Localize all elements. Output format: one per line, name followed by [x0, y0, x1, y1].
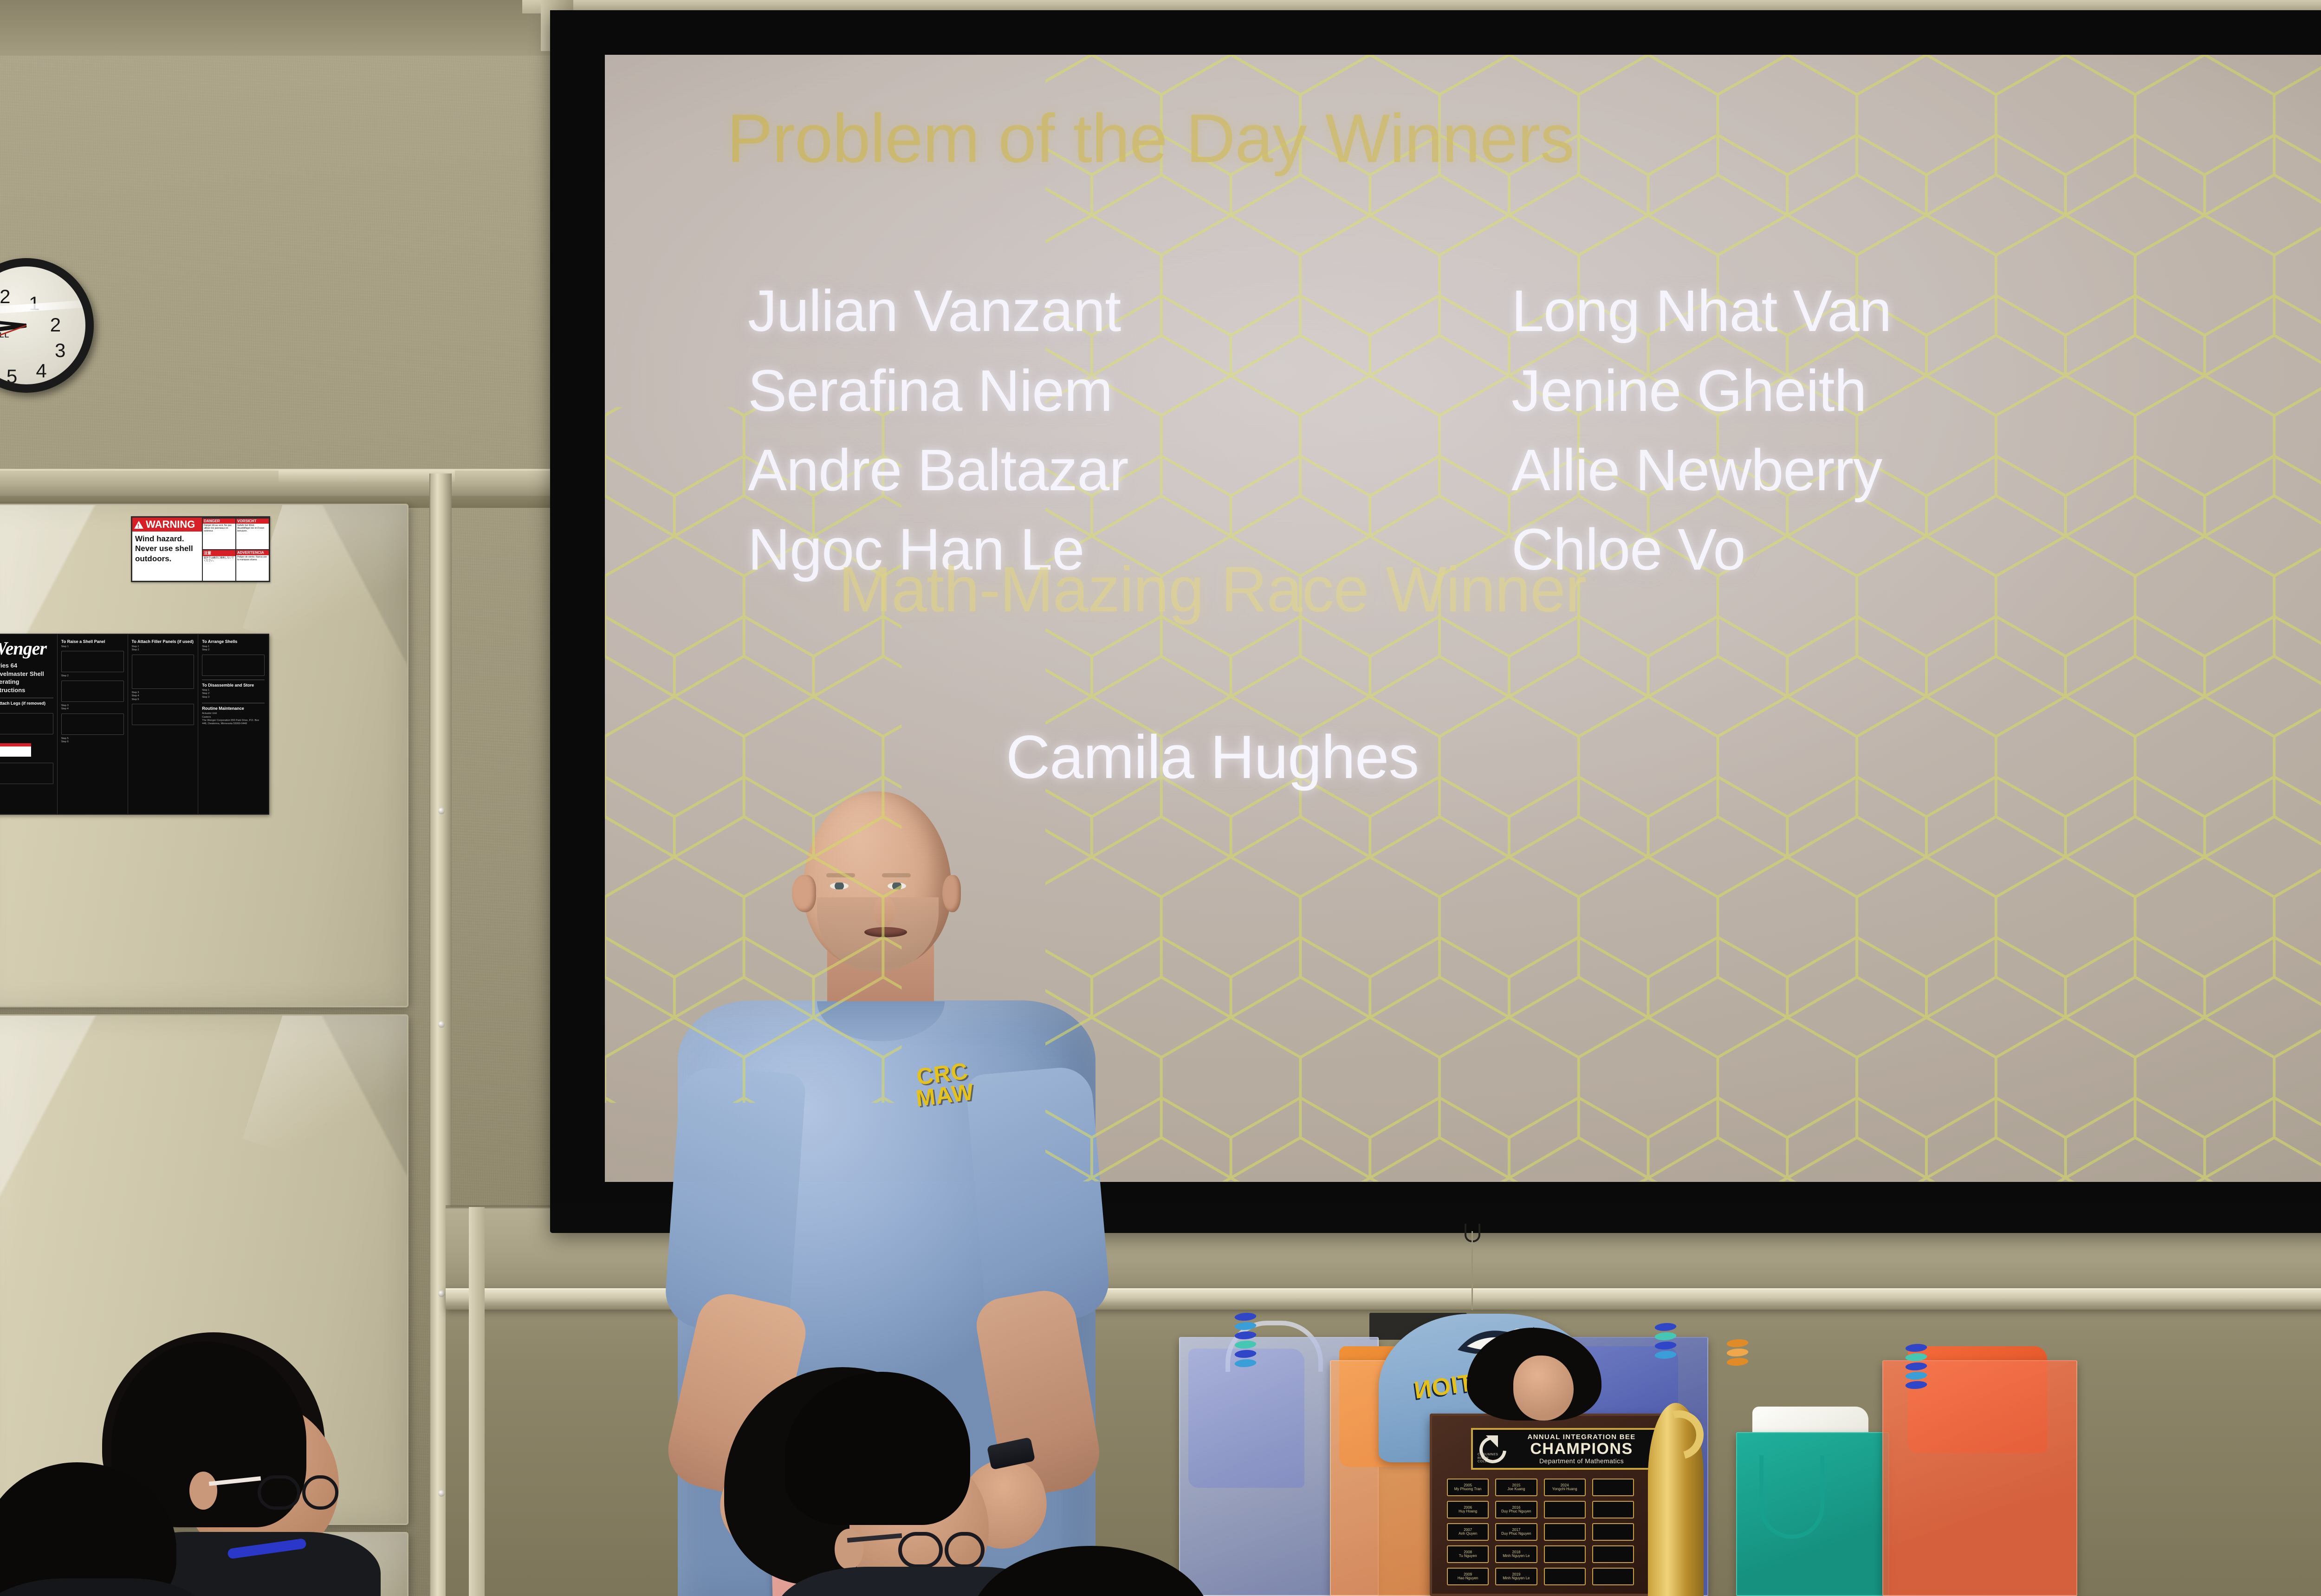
warning-line-1: Wind hazard.: [135, 534, 199, 544]
audience-member-foreground: [970, 1546, 1230, 1596]
warning-translation-text: Danger dû au vent. Ne pas utiliser les p…: [203, 524, 235, 533]
ear: [835, 1529, 863, 1570]
placard-section-heading: To Attach Legs (if removed): [0, 701, 53, 706]
placard-diagram: [202, 655, 265, 676]
winner-name: Julian Vanzant: [748, 271, 1484, 350]
warning-translation-cell: DANGER Danger dû au vent. Ne pas utilise…: [202, 518, 235, 549]
door-frame: [469, 1207, 485, 1596]
winner-name: Jenine Gheith: [1511, 351, 2247, 430]
plaque-plate: [1592, 1523, 1634, 1541]
placard-step: Step 3: [0, 757, 53, 760]
plaque-plate: [1592, 1479, 1634, 1496]
placard-step: Step 3: [61, 704, 124, 707]
warning-line-3: outdoors.: [135, 554, 199, 564]
warning-severity-bar: WARNING: [132, 518, 202, 532]
placard-step: Actuator Unit: [202, 712, 265, 715]
plaque-plate: [1592, 1501, 1634, 1518]
post-screw: [438, 1291, 445, 1297]
slide-title: Problem of the Day Winners: [727, 104, 2321, 173]
plaque-plate-name: Tu Nguyen: [1459, 1554, 1477, 1558]
plaque-logo-text: COSUMNES RIVER COLLEGE: [1478, 1453, 1504, 1464]
placard-step: Step 1: [202, 689, 265, 692]
warning-translation-text: Gefahr bei Wind. Akustikflügel nie im Fr…: [236, 524, 269, 533]
warning-severity-label: WARNING: [146, 519, 195, 531]
placard-step: Step 2: [202, 649, 265, 652]
placard-model: Travelmaster Shell: [0, 670, 53, 678]
plaque-plate-name: Hao Nguyen: [1458, 1577, 1478, 1581]
placard-arrange-column: To Arrange Shells Step 1 Step 2 To Disas…: [198, 635, 268, 814]
winner-name: Serafina Niem: [748, 351, 1484, 430]
post-screw: [438, 808, 445, 814]
slide-text-layer: Problem of the Day Winners Julian Vanzan…: [605, 55, 2321, 1182]
plaque-plate: 2005My Phuong Tran: [1447, 1479, 1489, 1496]
winner-name: Allie Newberry: [1511, 430, 2247, 510]
placard-step: Step 5: [132, 698, 194, 701]
hair: [0, 1462, 176, 1596]
placard-step: Step 6: [61, 740, 124, 744]
plaque-plate: 2024Yongchi Huang: [1544, 1479, 1586, 1496]
placard-section-heading: To Disassemble and Store: [202, 683, 265, 688]
placard-diagram: [0, 763, 53, 784]
warning-line-2: Never use shell: [135, 544, 199, 553]
plaque-plate: 2009Hao Nguyen: [1447, 1568, 1489, 1585]
gift-bag-handle: [1759, 1455, 1824, 1539]
photo-scene: 12 1 2 3 4 5 6 LORELL WARNING: [0, 0, 2321, 1596]
placard-diagram: [0, 713, 53, 734]
placard-filler-column: To Attach Filler Panels (if used) Step 1…: [128, 635, 199, 814]
placard-section-heading: To Attach Filler Panels (if used): [132, 639, 194, 644]
clock-numeral-3: 3: [55, 339, 65, 362]
placard-doctype: Operating Instructions: [0, 678, 53, 694]
warning-primary-panel: WARNING Wind hazard. Never use shell out…: [132, 518, 202, 581]
winner-name: Long Nhat Van: [1511, 271, 2247, 350]
clock-numeral-12: 12: [0, 285, 10, 308]
clock-glass-glare: [0, 299, 85, 317]
warning-translation-severity: 注意: [203, 550, 235, 556]
winner-name: Andre Baltazar: [748, 430, 1484, 510]
wind-hazard-warning-label: WARNING Wind hazard. Never use shell out…: [131, 516, 270, 582]
plaque-plate: [1544, 1545, 1586, 1563]
cosumnes-river-college-logo-icon: COSUMNES RIVER COLLEGE: [1477, 1434, 1504, 1463]
plaque-plate: 2008Tu Nguyen: [1447, 1545, 1489, 1563]
plaque-plate: 2006Huy Hoang: [1447, 1501, 1489, 1518]
warning-translation-text: Peligro de viento. Nunca use la mampara …: [236, 555, 269, 563]
plaque-header-plate: COSUMNES RIVER COLLEGE ANNUAL INTEGRATIO…: [1471, 1428, 1661, 1470]
post-screw: [438, 1021, 445, 1028]
plaque-plate-name: My Phuong Tran: [1454, 1487, 1482, 1492]
projection-screen: Problem of the Day Winners Julian Vanzan…: [550, 10, 2321, 1231]
gift-bag-coral: [1882, 1360, 2077, 1596]
placard-step: Step 3: [202, 696, 265, 699]
plaque-plate-name: Minh Nguyen Le: [1503, 1577, 1530, 1581]
plaque-plate: 2015Joe Kuang: [1495, 1479, 1537, 1496]
plaque-plate-name: Yongchi Huang: [1552, 1487, 1577, 1492]
curling-ribbon-blue: [1235, 1313, 1256, 1369]
plaque-plate-name: Anh Quyen: [1459, 1532, 1477, 1536]
plaque-plate-name: Duy Phuc Nguyen: [1501, 1510, 1531, 1514]
placard-step: Step 1: [61, 645, 124, 649]
placard-step: Step 4: [132, 694, 194, 698]
face: [1513, 1356, 1574, 1421]
plaque-plate-name: Duy Phuc Nguyen: [1501, 1532, 1531, 1536]
placard-diagram: [132, 704, 194, 725]
placard-step: Step 2: [202, 692, 265, 695]
plaque-plate: [1544, 1501, 1586, 1518]
clock-numeral-5: 5: [6, 365, 17, 384]
wenger-instruction-placard: Wenger Series 64 Travelmaster Shell Oper…: [0, 634, 269, 815]
audience-member-back-of-head-left: [0, 1462, 200, 1596]
clock-numeral-2: 2: [50, 314, 61, 336]
plaque-plate-name: Minh Nguyen Le: [1503, 1554, 1530, 1558]
clock-face: 12 1 2 3 4 5 6 LORELL: [0, 266, 85, 384]
placard-raise-column: To Raise a Shell Panel Step 1 Step 2 Ste…: [58, 635, 128, 814]
slide-subtitle: Math-Mazing Race Winner: [838, 558, 2321, 622]
plaque-plate-name: Joe Kuang: [1507, 1487, 1525, 1492]
plaque-plate: 2007Anh Quyen: [1447, 1523, 1489, 1541]
placard-step: Step 3: [132, 691, 194, 694]
plaque-engraved-plates: 2005My Phuong Tran2015Joe Kuang2024Yongc…: [1447, 1479, 1634, 1585]
placard-diagram: [61, 681, 124, 702]
post-screw: [438, 1490, 445, 1497]
placard-step: Step 4: [61, 707, 124, 711]
warning-translation-text: 屋外では絶対に使用しないでください。: [203, 556, 235, 564]
warning-translation-severity: DANGER: [203, 519, 235, 524]
plaque-plate: [1544, 1523, 1586, 1541]
placard-footer: The Wenger Corporation 555 Park Drive, P…: [202, 719, 265, 726]
plaque-header-line-3: Department of Mathematics: [1507, 1457, 1656, 1465]
plaque-plate: [1592, 1568, 1634, 1585]
shell-top-bracket: [279, 470, 455, 482]
placard-step: Step 1: [202, 645, 265, 649]
placard-series: Series 64: [0, 662, 53, 670]
winners-name-grid: Julian Vanzant Long Nhat Van Serafina Ni…: [748, 271, 2247, 589]
placard-step: Step 1: [132, 645, 194, 649]
warning-translation-cell: 注意 屋外では絶対に使用しないでください。: [202, 549, 235, 581]
curling-ribbon-blue: [1906, 1344, 1927, 1390]
placard-step: Casters: [202, 716, 265, 719]
placard-step: Step 1: [0, 707, 53, 710]
plaque-plate: 2017Duy Phuc Nguyen: [1495, 1523, 1537, 1541]
placard-step: Step 2: [132, 649, 194, 652]
placard-section-heading: To Raise a Shell Panel: [61, 639, 124, 644]
clock-numeral-4: 4: [36, 360, 46, 382]
audience-member-behind-table: [1416, 1328, 1592, 1421]
plaque-header-text: ANNUAL INTEGRATION BEE CHAMPIONS Departm…: [1507, 1433, 1656, 1465]
curling-ribbon-orange: [1727, 1339, 1748, 1367]
plaque-header-line-2: CHAMPIONS: [1507, 1441, 1656, 1458]
placard-step: Step 2: [61, 675, 124, 678]
wenger-brand-label: Wenger: [0, 639, 53, 658]
plaque-plate: [1544, 1568, 1586, 1585]
plaque-plate: 2016Duy Phuc Nguyen: [1495, 1501, 1537, 1518]
placard-diagram: [132, 655, 194, 689]
race-winner-name: Camila Hughes: [1006, 727, 1419, 788]
hair: [970, 1546, 1212, 1596]
plaque-plate: [1592, 1545, 1634, 1563]
plaque-plate: 2018Minh Nguyen Le: [1495, 1545, 1537, 1563]
warning-translation-severity: ADVERTENCIA: [236, 550, 269, 555]
glasses-icon: [258, 1472, 346, 1513]
warning-triangle-icon: [134, 521, 143, 529]
placard-section-heading: Routine Maintenance: [202, 706, 265, 711]
placard-diagram: [61, 714, 124, 735]
screen-pull-cord: [1472, 1231, 1473, 1310]
warning-translation-cell: ADVERTENCIA Peligro de viento. Nunca use…: [235, 549, 269, 581]
placard-mini-warning: [0, 743, 32, 757]
warning-text: Wind hazard. Never use shell outdoors.: [132, 532, 202, 581]
curling-ribbon-blue: [1655, 1323, 1676, 1360]
warning-translations-grid: DANGER Danger dû au vent. Ne pas utilise…: [202, 518, 269, 581]
perpetual-champions-plaque: COSUMNES RIVER COLLEGE ANNUAL INTEGRATIO…: [1430, 1414, 1692, 1596]
placard-step: Step 2: [0, 737, 53, 740]
placard-section-heading: To Arrange Shells: [202, 639, 265, 644]
plaque-plate: 2019Minh Nguyen Le: [1495, 1568, 1537, 1585]
warning-translation-severity: VORSICHT: [236, 519, 269, 524]
placard-brand-column: Wenger Series 64 Travelmaster Shell Oper…: [0, 635, 58, 814]
projected-slide: Problem of the Day Winners Julian Vanzan…: [605, 55, 2321, 1182]
plaque-gold-column: [1648, 1403, 1704, 1596]
placard-step: Step 5: [61, 737, 124, 740]
warning-translation-cell: VORSICHT Gefahr bei Wind. Akustikflügel …: [235, 518, 269, 549]
plaque-plate-name: Huy Hoang: [1459, 1510, 1477, 1514]
placard-diagram: [61, 651, 124, 672]
